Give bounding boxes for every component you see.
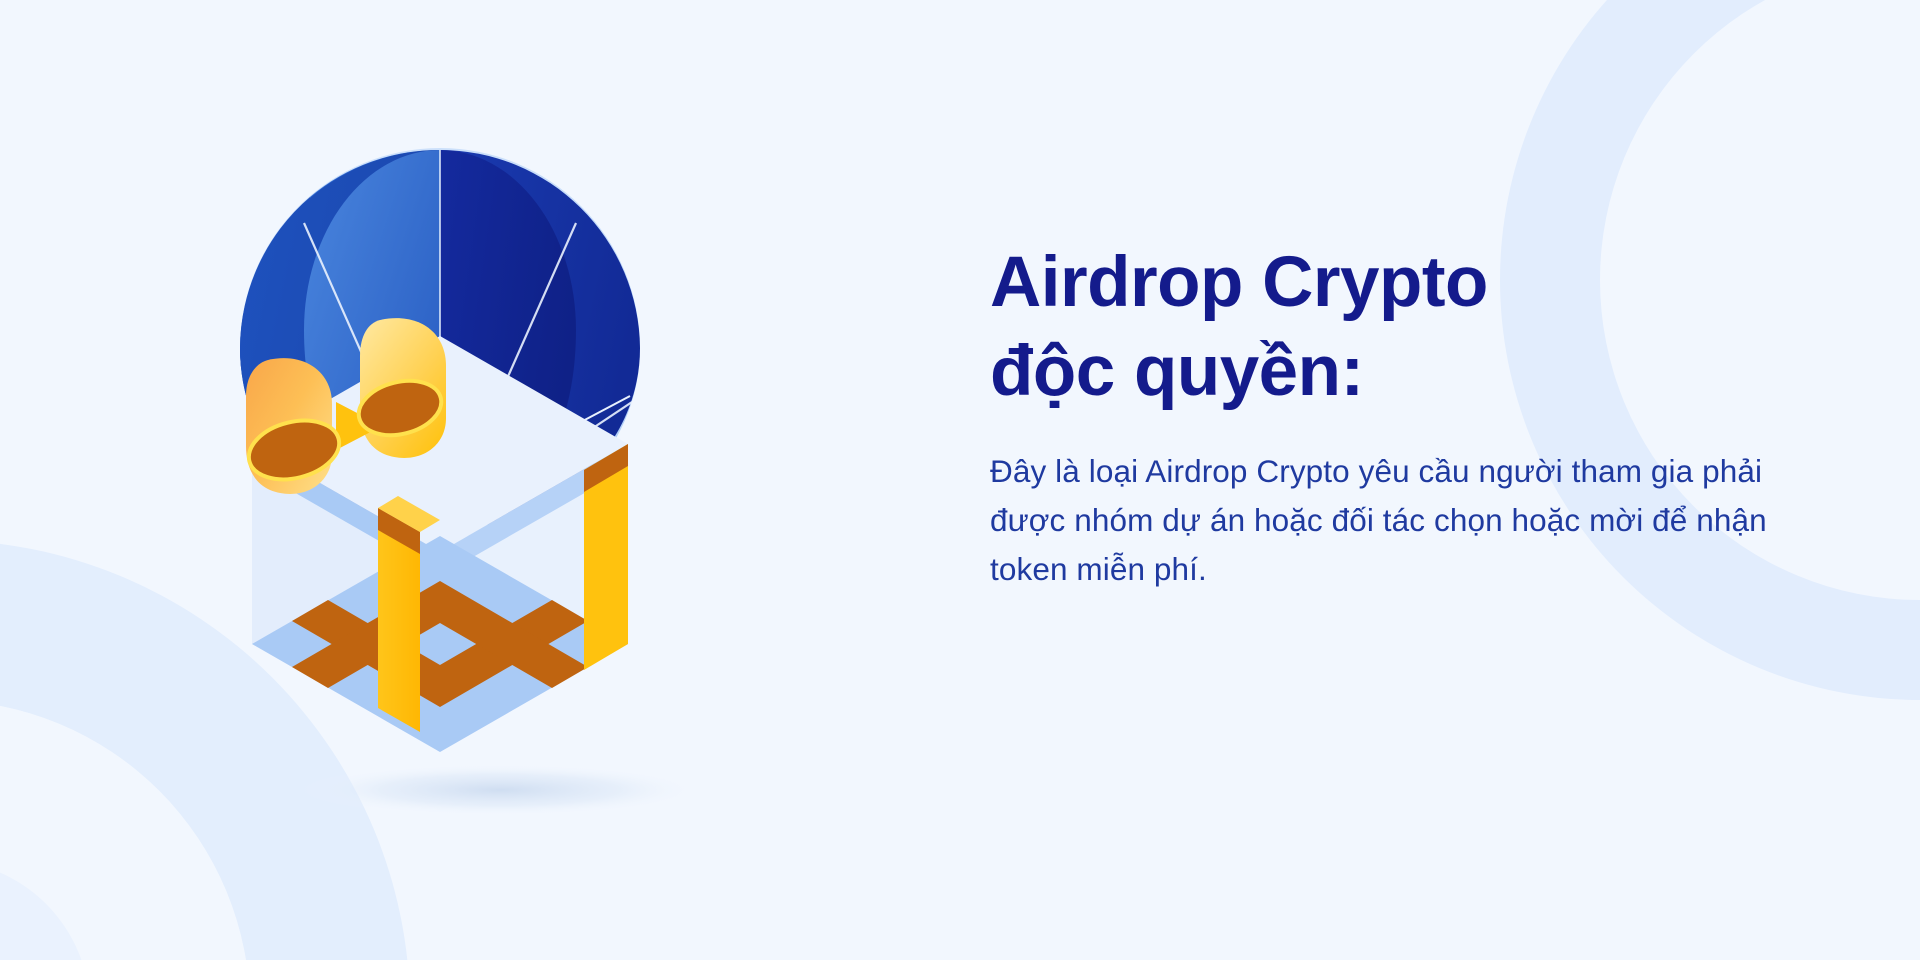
page-description: Đây là loại Airdrop Crypto yêu cầu người…	[990, 447, 1835, 593]
page-title-line-2: độc quyền:	[990, 327, 1850, 416]
ground-shadow	[300, 764, 700, 816]
airdrop-parachute-gift-illustration	[232, 30, 752, 860]
page-title-line-1: Airdrop Crypto	[990, 238, 1850, 327]
text-column: Airdrop Crypto độc quyền: Đây là loại Ai…	[990, 238, 1850, 593]
page-title: Airdrop Crypto độc quyền:	[990, 238, 1850, 417]
airdrop-banner: Airdrop Crypto độc quyền: Đây là loại Ai…	[0, 0, 1920, 960]
